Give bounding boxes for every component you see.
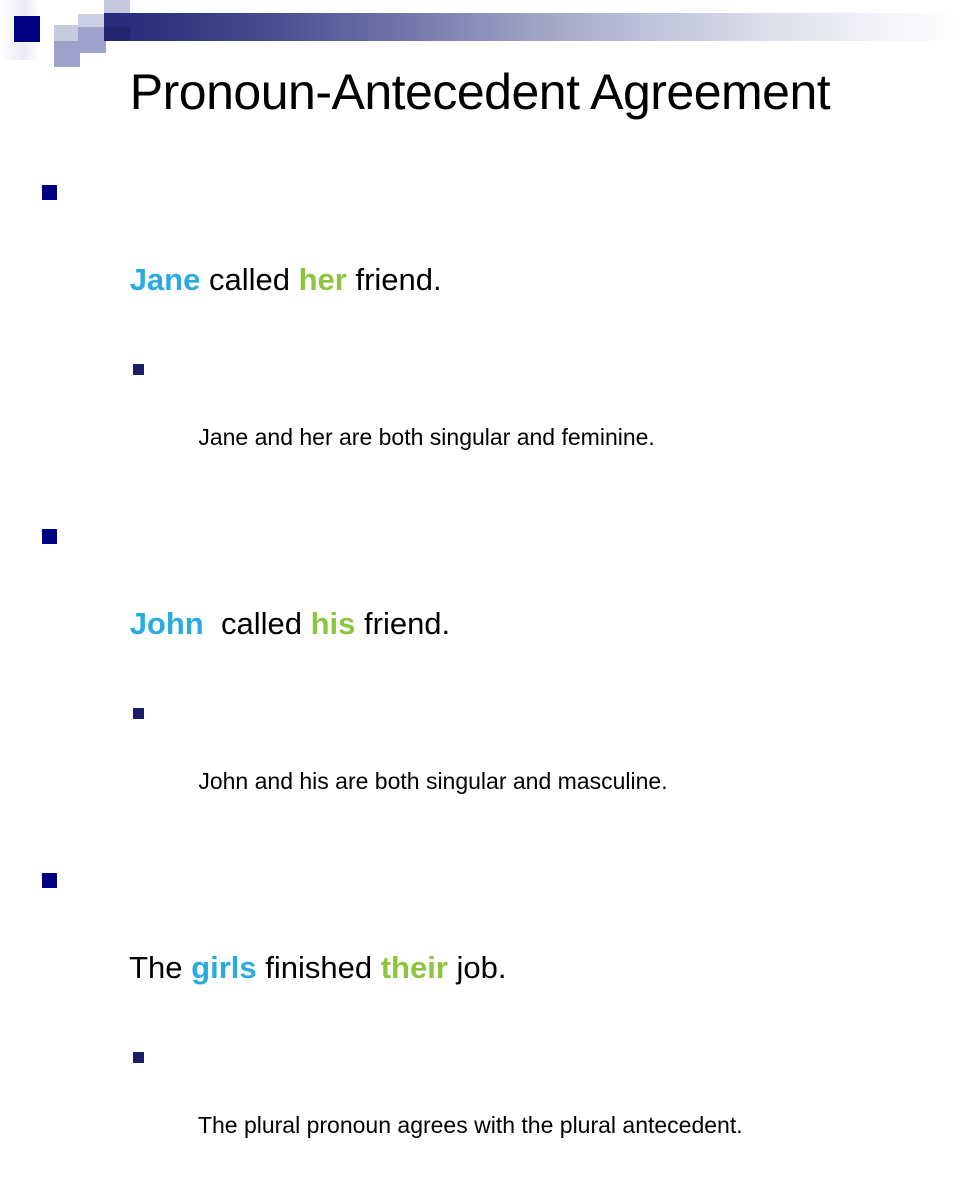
bullet-group: Jane called her friend. Jane and her are…: [0, 170, 960, 488]
square-bullet-icon: [42, 185, 57, 200]
sub-bullet-text: The plural pronoun agrees with the plura…: [198, 1112, 743, 1138]
text-run-plain: friend.: [355, 606, 450, 641]
bullet-group: The girls finished their job. The plural…: [0, 858, 960, 1176]
header-gradient-bar: [104, 13, 960, 41]
text-run-pronoun: their: [381, 950, 448, 985]
text-run-plain: finished: [257, 950, 381, 985]
text-run-pronoun: her: [299, 262, 347, 297]
sub-bullet-line: The plural pronoun agrees with the plura…: [0, 1040, 960, 1176]
main-bullet-line: The girls finished their job.: [0, 858, 960, 1034]
slide-header-decoration: [0, 0, 960, 60]
sub-bullet-line: John and his are both singular and mascu…: [0, 696, 960, 832]
page-title: Pronoun-Antecedent Agreement: [0, 62, 960, 122]
slide-body: Jane called her friend. Jane and her are…: [0, 170, 960, 1202]
main-bullet-line: Jane called her friend.: [0, 170, 960, 346]
main-bullet-line: John called his friend.: [0, 514, 960, 690]
bullet-group: John called his friend. John and his are…: [0, 514, 960, 832]
square-sub-bullet-icon: [133, 708, 144, 719]
text-run-antecedent: girls: [191, 950, 256, 985]
decor-square-periwinkle-upper: [78, 27, 106, 53]
text-run-plain: called: [200, 262, 298, 297]
text-run-antecedent: Jane: [130, 262, 201, 297]
text-run-pronoun: his: [311, 606, 356, 641]
text-run-plain: job.: [448, 950, 507, 985]
text-run-antecedent: John: [130, 606, 204, 641]
square-sub-bullet-icon: [133, 364, 144, 375]
square-bullet-icon: [42, 529, 57, 544]
decor-square-navy-bar-start: [104, 27, 130, 41]
sub-bullet-line: Jane and her are both singular and femin…: [0, 352, 960, 488]
square-bullet-icon: [42, 873, 57, 888]
text-run-plain: friend.: [347, 262, 442, 297]
decor-square-navy: [14, 16, 40, 42]
text-run-plain: The: [129, 950, 191, 985]
text-run-plain: called: [204, 606, 311, 641]
main-bullet-text: Jane called her friend.: [130, 262, 442, 297]
square-sub-bullet-icon: [133, 1052, 144, 1063]
main-bullet-text: The girls finished their job.: [129, 950, 506, 985]
main-bullet-text: John called his friend.: [130, 606, 450, 641]
sub-bullet-text: Jane and her are both singular and femin…: [198, 424, 654, 450]
sub-bullet-text: John and his are both singular and mascu…: [198, 768, 667, 794]
